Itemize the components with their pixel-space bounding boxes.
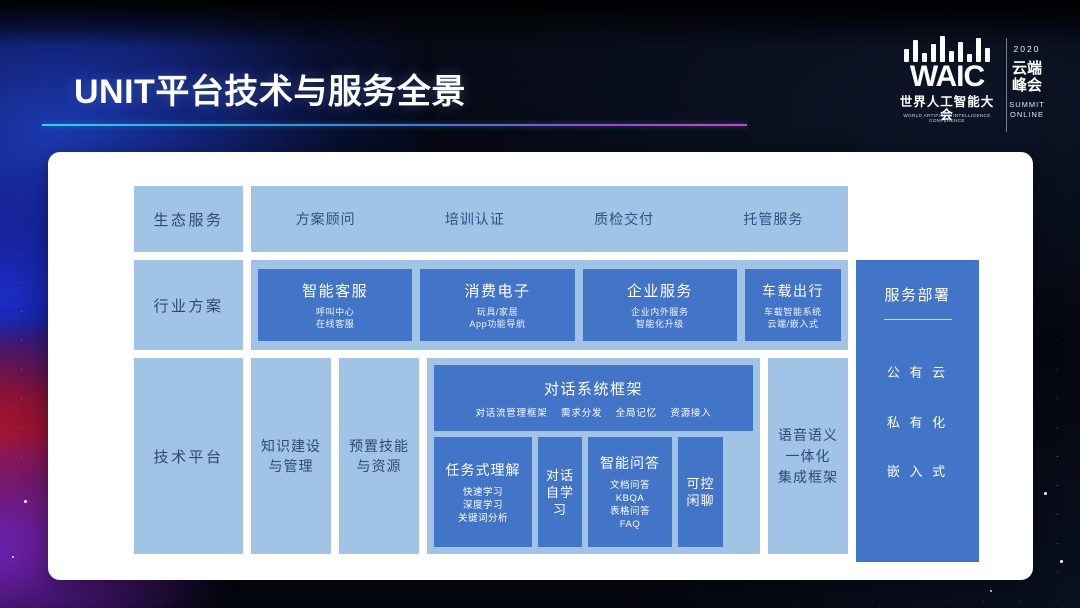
waic-english-name: WORLD ARTIFICIAL INTELLIGENCE CONFERENCE bbox=[896, 114, 998, 123]
industry-card-sub-line: 企业内外服务 bbox=[631, 306, 689, 318]
dialog-subcard-line: 表格问答 bbox=[610, 505, 650, 518]
platform-column-voice-semantic[interactable]: 语音语义 一体化 集成框架 bbox=[768, 358, 848, 554]
dialog-framework-tag: 需求分发 bbox=[561, 408, 602, 419]
platform-column-preset-skills[interactable]: 预置技能 与资源 bbox=[339, 358, 419, 554]
industry-card-automotive-mobility[interactable]: 车载出行 车载智能系统 云端/嵌入式 bbox=[745, 269, 841, 341]
industry-card-sub-line: 玩具/家居 bbox=[469, 306, 525, 318]
deploy-panel-title: 服务部署 bbox=[884, 284, 950, 305]
dialog-subcard-smart-qa[interactable]: 智能问答 文档问答 KBQA 表格问答 FAQ bbox=[588, 437, 672, 547]
industry-card-subtitle: 企业内外服务 智能化升级 bbox=[631, 306, 689, 330]
dialog-subcard-task-understanding[interactable]: 任务式理解 快速学习 深度学习 关键词分析 bbox=[434, 437, 532, 547]
industry-card-title: 智能客服 bbox=[302, 280, 368, 301]
dialog-framework-tag: 资源接入 bbox=[670, 408, 711, 419]
industry-card-sub-line: 云端/嵌入式 bbox=[764, 318, 822, 330]
waic-summit-en-line1: SUMMIT bbox=[1007, 100, 1047, 110]
dialog-subcard-title: 任务式理解 bbox=[446, 460, 521, 480]
star-dot bbox=[24, 500, 27, 503]
dialog-subcard-line: FAQ bbox=[610, 518, 650, 531]
dialog-subcard-line: 对话 bbox=[540, 467, 580, 484]
waic-logo-left: WAIC 世界人工智能大会 WORLD ARTIFICIAL INTELLIGE… bbox=[896, 36, 998, 134]
deploy-column: 服务部署 公 有 云 私 有 化 嵌 入 式 bbox=[856, 186, 979, 554]
industry-cards-container: 智能客服 呼叫中心 在线客服 消费电子 玩具/家居 App功能导航 bbox=[251, 260, 848, 350]
row-label-ecosystem: 生态服务 bbox=[134, 186, 243, 252]
platform-column-line: 与资源 bbox=[349, 456, 409, 476]
waic-summit-cn: 云端 峰会 bbox=[1007, 60, 1047, 94]
industry-card-smart-customer-service[interactable]: 智能客服 呼叫中心 在线客服 bbox=[258, 269, 412, 341]
industry-card-subtitle: 车载智能系统 云端/嵌入式 bbox=[764, 306, 822, 330]
dialog-system-container: 对话系统框架 对话流管理框架 需求分发 全局记忆 资源接入 任务式理解 bbox=[427, 358, 760, 554]
dialog-framework-tags: 对话流管理框架 需求分发 全局记忆 资源接入 bbox=[470, 405, 716, 419]
title-divider-rule bbox=[42, 124, 747, 126]
industry-card-title: 消费电子 bbox=[464, 280, 530, 301]
deploy-item-embedded[interactable]: 嵌 入 式 bbox=[887, 461, 948, 480]
dialog-subcard-body: 文档问答 KBQA 表格问答 FAQ bbox=[610, 479, 650, 531]
platform-column-line: 知识建设 bbox=[261, 436, 321, 456]
dialog-subcard-body: 可控 闲聊 bbox=[686, 475, 714, 509]
deploy-item-public-cloud[interactable]: 公 有 云 bbox=[887, 362, 948, 381]
industry-card-consumer-electronics[interactable]: 消费电子 玩具/家居 App功能导航 bbox=[420, 269, 574, 341]
dialog-subcard-line: 可控 bbox=[686, 475, 714, 492]
dialog-subcard-title: 智能问答 bbox=[600, 453, 660, 473]
waic-summit-en: SUMMIT ONLINE bbox=[1007, 100, 1047, 120]
waic-logo-bars-icon bbox=[904, 36, 992, 62]
voice-column-line: 集成框架 bbox=[778, 467, 838, 488]
industry-card-sub-line: 智能化升级 bbox=[631, 318, 689, 330]
architecture-diagram: 生态服务 方案顾问 培训认证 质检交付 托管服务 行业方案 智能客服 呼叫中心 bbox=[134, 186, 979, 554]
waic-logo-right: 2020 云端 峰会 SUMMIT ONLINE bbox=[1006, 38, 1046, 132]
industry-card-enterprise-service[interactable]: 企业服务 企业内外服务 智能化升级 bbox=[583, 269, 737, 341]
dialog-subcard-line: 关键词分析 bbox=[458, 512, 508, 525]
industry-card-subtitle: 玩具/家居 App功能导航 bbox=[469, 306, 525, 330]
platform-column-line: 预置技能 bbox=[349, 436, 409, 456]
dialog-subcard-controllable-chitchat[interactable]: 可控 闲聊 bbox=[678, 437, 723, 547]
platform-column-knowledge[interactable]: 知识建设 与管理 bbox=[251, 358, 331, 554]
dialog-subcard-self-learning[interactable]: 对话 自学习 bbox=[538, 437, 582, 547]
ecosystem-items-container: 方案顾问 培训认证 质检交付 托管服务 bbox=[251, 186, 848, 252]
dialog-subcard-line: 快速学习 bbox=[458, 486, 508, 499]
ecosystem-item-solution-consulting[interactable]: 方案顾问 bbox=[251, 209, 400, 229]
industry-card-sub-line: 呼叫中心 bbox=[316, 306, 354, 318]
industry-card-title: 车载出行 bbox=[762, 281, 824, 301]
ecosystem-item-quality-delivery[interactable]: 质检交付 bbox=[550, 209, 699, 229]
dialog-subcard-line: 自学习 bbox=[540, 484, 580, 518]
row-label-platform: 技术平台 bbox=[134, 358, 243, 554]
dialog-subcard-line: 文档问答 bbox=[610, 479, 650, 492]
row-technology-platform: 技术平台 知识建设 与管理 预置技能 与资源 对话系统框架 bbox=[134, 358, 848, 554]
dialog-framework-tag: 全局记忆 bbox=[616, 408, 657, 419]
dialog-framework-tag: 对话流管理框架 bbox=[475, 408, 547, 419]
service-deployment-panel[interactable]: 服务部署 公 有 云 私 有 化 嵌 入 式 bbox=[856, 260, 979, 562]
voice-column-line: 语音语义 bbox=[778, 425, 838, 446]
industry-card-title: 企业服务 bbox=[627, 280, 693, 301]
page-title: UNIT平台技术与服务全景 bbox=[74, 64, 466, 113]
star-dot bbox=[1044, 492, 1047, 495]
dialog-subcard-line: 深度学习 bbox=[458, 499, 508, 512]
waic-summit-cn-line2: 峰会 bbox=[1007, 77, 1047, 94]
row-industry-solutions: 行业方案 智能客服 呼叫中心 在线客服 消费电子 玩具/家居 App功能导 bbox=[134, 260, 848, 350]
star-dot bbox=[1060, 560, 1063, 563]
content-card: 生态服务 方案顾问 培训认证 质检交付 托管服务 行业方案 智能客服 呼叫中心 bbox=[48, 152, 1033, 580]
dialog-framework-title: 对话系统框架 bbox=[544, 378, 643, 399]
ecosystem-item-training-certification[interactable]: 培训认证 bbox=[400, 209, 549, 229]
dialog-subcard-line: KBQA bbox=[610, 492, 650, 505]
row-label-industry: 行业方案 bbox=[134, 260, 243, 350]
industry-card-sub-line: 车载智能系统 bbox=[764, 306, 822, 318]
industry-card-sub-line: 在线客服 bbox=[316, 318, 354, 330]
row-ecosystem-services: 生态服务 方案顾问 培训认证 质检交付 托管服务 bbox=[134, 186, 848, 252]
slide-header: UNIT平台技术与服务全景 WAIC 世界人工智能大会 WORLD ARTIFI… bbox=[0, 0, 1080, 152]
ecosystem-item-managed-service[interactable]: 托管服务 bbox=[699, 209, 848, 229]
industry-card-sub-line: App功能导航 bbox=[469, 318, 525, 330]
waic-logo: WAIC 世界人工智能大会 WORLD ARTIFICIAL INTELLIGE… bbox=[896, 36, 1046, 134]
star-dot bbox=[12, 556, 14, 558]
waic-year: 2020 bbox=[1007, 44, 1047, 54]
star-dot bbox=[990, 590, 992, 592]
dialog-subcards-row: 任务式理解 快速学习 深度学习 关键词分析 对话 自学习 bbox=[434, 437, 753, 547]
deploy-item-private[interactable]: 私 有 化 bbox=[887, 412, 948, 431]
dialog-system-framework[interactable]: 对话系统框架 对话流管理框架 需求分发 全局记忆 资源接入 bbox=[434, 365, 753, 431]
waic-summit-en-line2: ONLINE bbox=[1007, 110, 1047, 120]
deploy-items-list: 公 有 云 私 有 化 嵌 入 式 bbox=[856, 320, 979, 562]
dialog-subcard-line: 闲聊 bbox=[686, 492, 714, 509]
waic-wordmark: WAIC bbox=[896, 62, 998, 92]
platform-column-line: 与管理 bbox=[261, 456, 321, 476]
waic-summit-cn-line1: 云端 bbox=[1007, 60, 1047, 77]
diagram-main-grid: 生态服务 方案顾问 培训认证 质检交付 托管服务 行业方案 智能客服 呼叫中心 bbox=[134, 186, 848, 554]
dialog-subcard-body: 快速学习 深度学习 关键词分析 bbox=[458, 486, 508, 525]
dialog-subcard-body: 对话 自学习 bbox=[540, 467, 580, 518]
industry-card-subtitle: 呼叫中心 在线客服 bbox=[316, 306, 354, 330]
voice-column-line: 一体化 bbox=[778, 446, 838, 467]
